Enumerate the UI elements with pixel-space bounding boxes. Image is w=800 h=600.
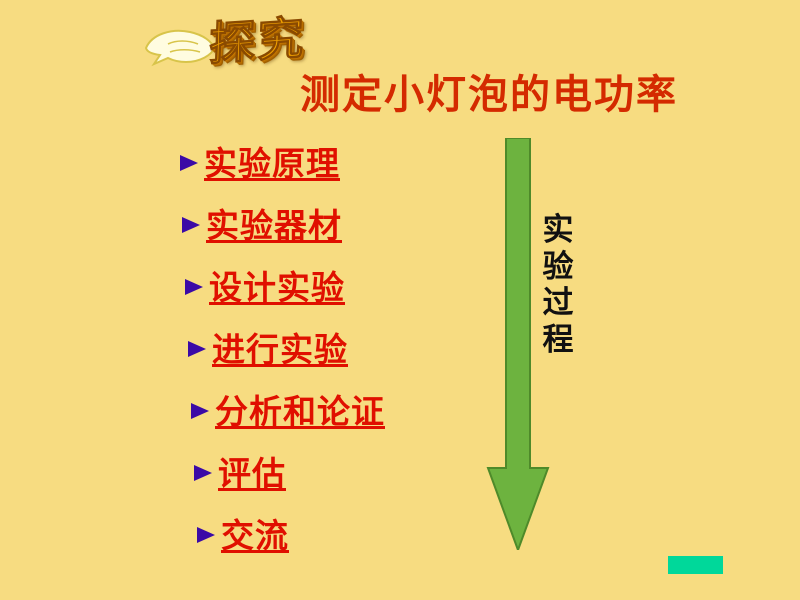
list-item[interactable]: 进行实验 [186,316,478,378]
process-label: 实 验 过 程 [536,212,580,358]
triangle-bullet-icon [183,276,205,298]
list-item-label: 交流 [221,509,289,557]
list-item[interactable]: 评估 [192,440,478,502]
list-item[interactable]: 分析和论证 [189,378,478,440]
list-item[interactable]: 实验原理 [178,130,478,192]
triangle-bullet-icon [195,524,217,546]
explore-wordart-badge: 探究 [208,1,307,74]
triangle-bullet-icon [192,462,214,484]
list-item-label: 评估 [218,447,286,495]
list-item-label: 设计实验 [209,261,345,309]
list-item-label: 实验原理 [204,137,340,185]
list-item[interactable]: 实验器材 [180,192,478,254]
slide-canvas: 探究 测定小灯泡的电功率 实验原理 实验器材 设计实验 进行实验 [0,0,800,600]
nav-swatch-button[interactable] [668,556,723,574]
triangle-bullet-icon [186,338,208,360]
page-title: 测定小灯泡的电功率 [300,62,678,120]
list-item-label: 进行实验 [212,323,348,371]
list-item[interactable]: 交流 [195,502,478,564]
triangle-bullet-icon [189,400,211,422]
triangle-bullet-icon [178,152,200,174]
bullet-list: 实验原理 实验器材 设计实验 进行实验 分析和论证 [178,130,478,564]
list-item-label: 实验器材 [206,199,342,247]
list-item[interactable]: 设计实验 [183,254,478,316]
triangle-bullet-icon [180,214,202,236]
list-item-label: 分析和论证 [215,385,385,433]
